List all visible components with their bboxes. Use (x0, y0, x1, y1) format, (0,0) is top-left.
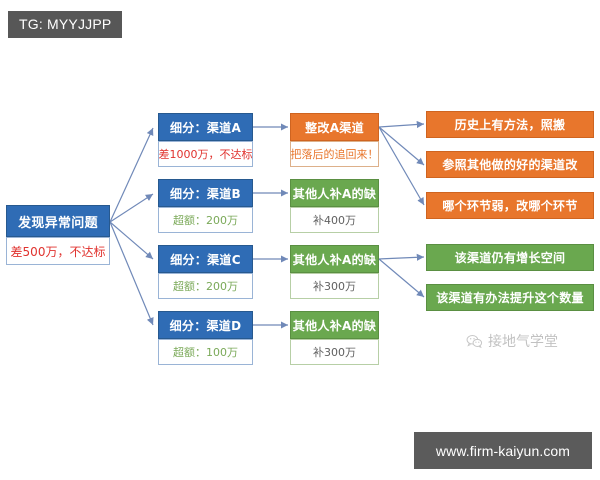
link-root-to-channel-a (110, 128, 153, 222)
link-action-c-to-outcome-4 (379, 257, 424, 259)
node-action-c-head: 其他人补A的缺 (290, 245, 379, 273)
node-action-c-sub: 补300万 (290, 273, 379, 299)
node-channel-a-head: 细分：渠道A (158, 113, 253, 141)
link-root-to-channel-d (110, 222, 153, 325)
node-channel-c[interactable]: 细分：渠道C 超额：200万 (158, 245, 253, 299)
wechat-icon (466, 333, 483, 350)
link-action-c-to-outcome-5 (379, 259, 424, 297)
link-root-to-channel-b (110, 194, 153, 222)
diagram-canvas: 发现异常问题 差500万，不达标 细分：渠道A 差1000万，不达标 细分：渠道… (0, 0, 600, 480)
link-action-a-to-outcome-3 (379, 127, 424, 205)
node-channel-d[interactable]: 细分：渠道D 超额：100万 (158, 311, 253, 365)
node-channel-d-sub: 超额：100万 (158, 339, 253, 365)
node-root-sub: 差500万，不达标 (6, 237, 110, 265)
node-outcome-green-1[interactable]: 该渠道仍有增长空间 (426, 244, 594, 271)
link-root-to-channel-c (110, 222, 153, 259)
node-channel-c-head: 细分：渠道C (158, 245, 253, 273)
node-action-a-sub: 把落后的追回来！ (290, 141, 379, 167)
watermark: 接地气学堂 (466, 331, 558, 351)
node-channel-a[interactable]: 细分：渠道A 差1000万，不达标 (158, 113, 253, 167)
node-action-b[interactable]: 其他人补A的缺 补400万 (290, 179, 379, 233)
footer-url: www.firm-kaiyun.com (414, 432, 592, 469)
tg-badge: TG: MYYJJPP (8, 11, 122, 38)
node-action-a-head: 整改A渠道 (290, 113, 379, 141)
node-channel-d-head: 细分：渠道D (158, 311, 253, 339)
node-channel-a-sub: 差1000万，不达标 (158, 141, 253, 167)
node-root-head: 发现异常问题 (6, 205, 110, 237)
node-outcome-green-2[interactable]: 该渠道有办法提升这个数量 (426, 284, 594, 311)
node-outcome-orange-2[interactable]: 参照其他做的好的渠道改 (426, 151, 594, 178)
node-channel-c-sub: 超额：200万 (158, 273, 253, 299)
node-outcome-orange-3[interactable]: 哪个环节弱，改哪个环节 (426, 192, 594, 219)
watermark-text: 接地气学堂 (488, 331, 558, 351)
node-action-a[interactable]: 整改A渠道 把落后的追回来！ (290, 113, 379, 167)
node-action-d-sub: 补300万 (290, 339, 379, 365)
node-channel-b-head: 细分：渠道B (158, 179, 253, 207)
node-action-d[interactable]: 其他人补A的缺 补300万 (290, 311, 379, 365)
node-action-b-sub: 补400万 (290, 207, 379, 233)
link-action-a-to-outcome-1 (379, 124, 424, 127)
node-channel-b[interactable]: 细分：渠道B 超额：200万 (158, 179, 253, 233)
link-action-a-to-outcome-2 (379, 127, 424, 165)
node-action-d-head: 其他人补A的缺 (290, 311, 379, 339)
node-action-c[interactable]: 其他人补A的缺 补300万 (290, 245, 379, 299)
node-outcome-orange-1[interactable]: 历史上有方法，照搬 (426, 111, 594, 138)
node-root[interactable]: 发现异常问题 差500万，不达标 (6, 205, 110, 265)
node-action-b-head: 其他人补A的缺 (290, 179, 379, 207)
node-channel-b-sub: 超额：200万 (158, 207, 253, 233)
